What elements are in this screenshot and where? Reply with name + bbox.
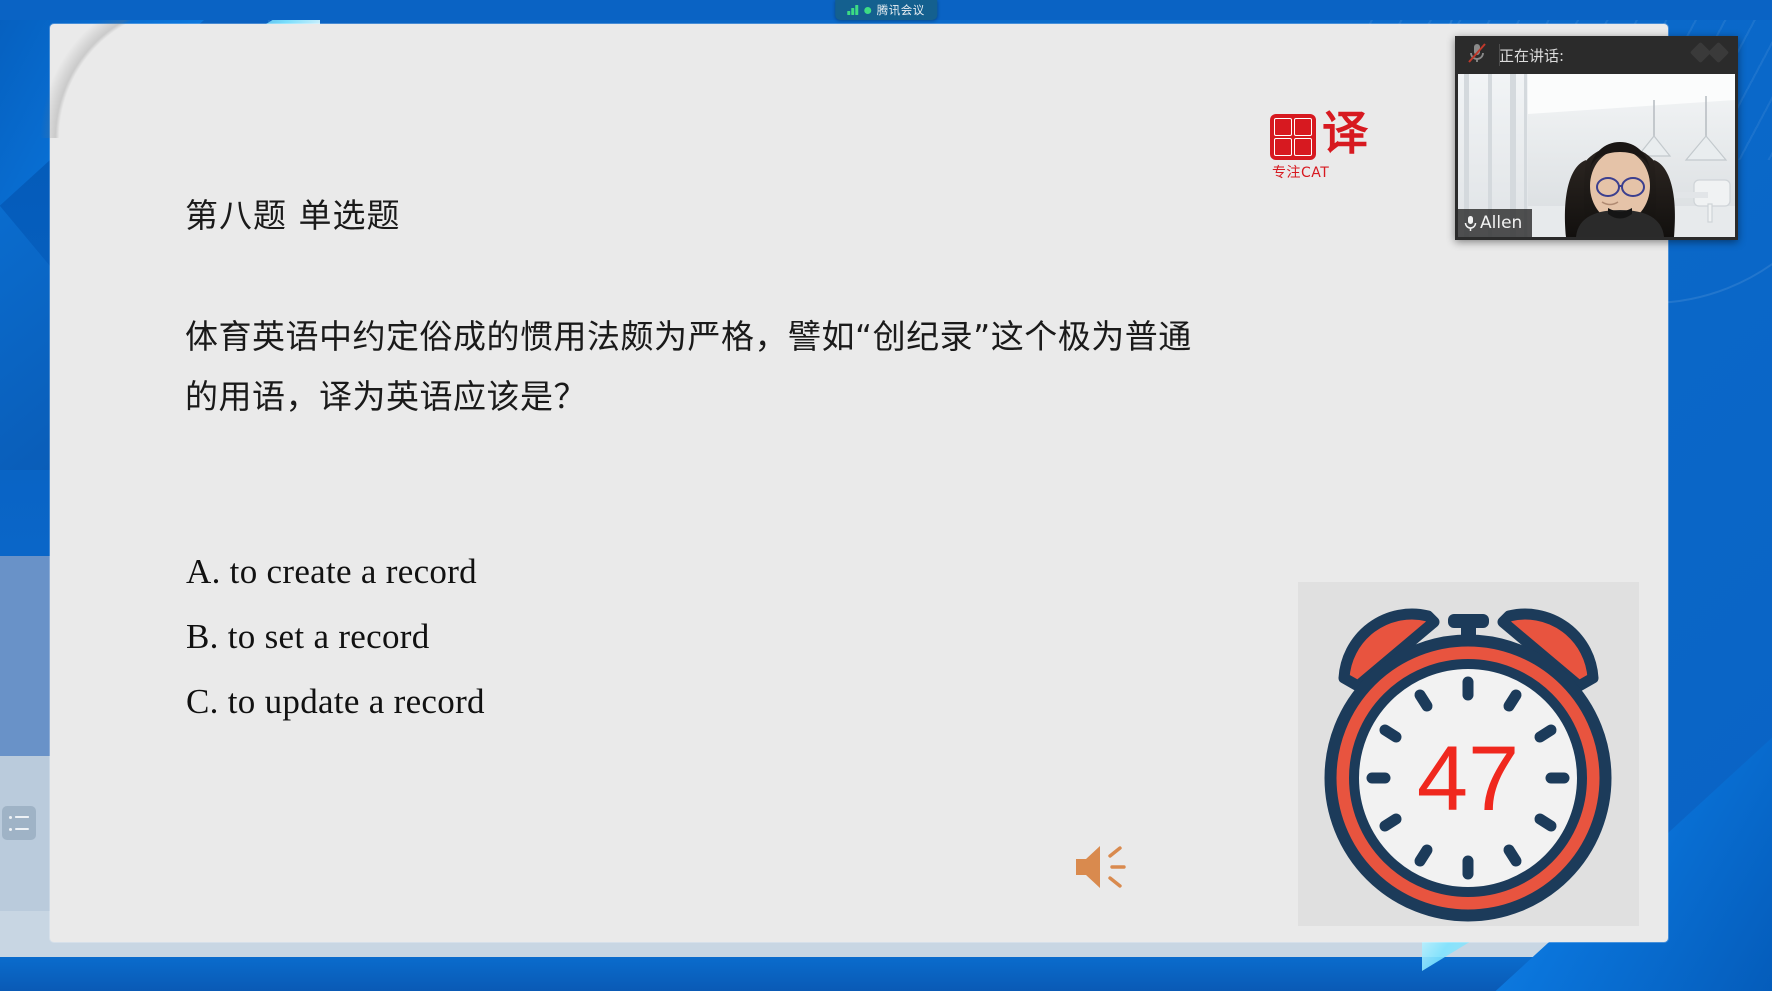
question-line-1: 体育英语中约定俗成的惯用法颇为严格，譬如“创纪录”这个极为普通 [185,307,1365,367]
microphone-icon [1464,215,1477,232]
video-thumbnail-panel[interactable]: 正在讲话: [1455,36,1738,240]
meeting-status-pill[interactable]: 腾讯会议 [835,0,937,20]
question-line-2: 的用语，译为英语应该是？ [185,367,1365,427]
option-a[interactable]: A. to create a record [186,552,485,592]
option-b[interactable]: B. to set a record [186,617,485,657]
question-title: 第八题 单选题 [185,189,401,237]
diamond-decoration-icon [1693,45,1726,60]
video-header: 正在讲话: [1455,36,1738,74]
microphone-muted-icon[interactable] [1467,42,1487,69]
alarm-clock-icon: 47 [1298,582,1639,926]
list-menu-icon[interactable] [2,806,36,840]
countdown-timer-panel: 47 [1298,582,1639,926]
speaker-audio-icon[interactable] [1070,839,1132,895]
logo-mark: 译 [1322,110,1368,156]
participant-name: Allen [1480,213,1522,233]
video-feed[interactable]: Allen [1458,74,1735,237]
answer-options-list: A. to create a record B. to set a record… [186,552,485,747]
speaking-status-label: 正在讲话: [1499,45,1564,66]
status-dot-icon [864,7,871,14]
countdown-value: 47 [1417,728,1519,830]
header-divider [1499,44,1500,66]
logo-tagline: 专注CAT [1272,162,1329,182]
participant-name-chip: Allen [1458,209,1532,237]
presentation-slide[interactable]: 第八题 单选题 体育英语中约定俗成的惯用法颇为严格，譬如“创纪录”这个极为普通 … [50,24,1668,942]
question-body: 体育英语中约定俗成的惯用法颇为严格，譬如“创纪录”这个极为普通 的用语，译为英语… [185,307,1365,427]
meeting-app-name: 腾讯会议 [877,2,925,18]
chinese-seal-icon [1270,114,1316,160]
brand-logo: 译 专注CAT [1270,112,1390,182]
option-c[interactable]: C. to update a record [186,682,485,722]
signal-bars-icon [847,5,858,15]
slide-corner-shadow [40,18,190,138]
